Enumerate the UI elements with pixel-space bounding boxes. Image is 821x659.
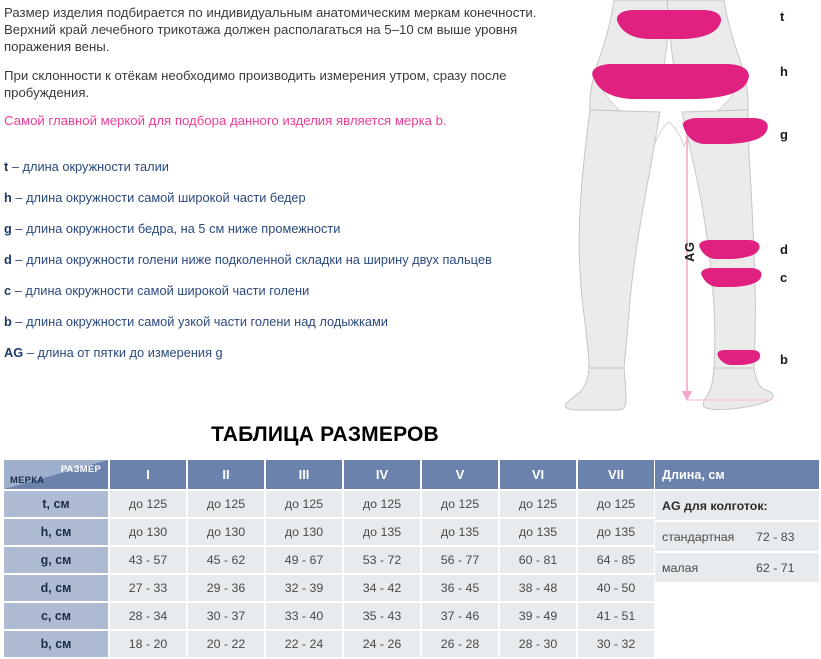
cell-h-6: до 135 <box>500 519 576 545</box>
corner-measure-label: МЕРКА <box>10 474 44 485</box>
page-title: ТАБЛИЦА РАЗМЕРОВ <box>0 423 650 447</box>
cell-b-1: 18 - 20 <box>110 631 186 657</box>
legend-key-t: t <box>4 159 8 174</box>
legend-text-b: длина окружности самой узкой части голен… <box>26 314 388 329</box>
size-column-header-3: III <box>266 460 342 489</box>
length-row-name-small: малая <box>655 553 755 582</box>
legend-text-t: длина окружности талии <box>23 159 169 174</box>
legend-item-h: h – длина окружности самой широкой части… <box>4 190 604 221</box>
legend-dash-b: – <box>15 314 22 329</box>
size-column-header-5: V <box>422 460 498 489</box>
legend-item-d: d – длина окружности голени ниже подколе… <box>4 252 604 283</box>
table-row: стандартная 72 - 83 <box>655 522 819 551</box>
cell-t-3: до 125 <box>266 491 342 517</box>
cell-c-1: 28 - 34 <box>110 603 186 629</box>
cell-b-3: 22 - 24 <box>266 631 342 657</box>
figure-label-g: g <box>780 128 788 141</box>
figure-label-d: d <box>780 243 788 256</box>
cell-b-5: 26 - 28 <box>422 631 498 657</box>
highlight-paragraph: Самой главной меркой для подбора данного… <box>4 112 552 129</box>
cell-h-7: до 135 <box>578 519 654 545</box>
cell-b-7: 30 - 32 <box>578 631 654 657</box>
legend-text-h: длина окружности самой широкой части бед… <box>26 190 306 205</box>
cell-c-7: 41 - 51 <box>578 603 654 629</box>
cell-d-1: 27 - 33 <box>110 575 186 601</box>
legend-item-t: t – длина окружности талии <box>4 159 604 190</box>
legend-text-g: длина окружности бедра, на 5 см ниже про… <box>26 221 340 236</box>
length-row-name-standard: стандартная <box>655 522 755 551</box>
cell-t-7: до 125 <box>578 491 654 517</box>
legend-dash-t: – <box>12 159 19 174</box>
cell-t-4: до 125 <box>344 491 420 517</box>
band-h <box>592 64 749 99</box>
cell-h-3: до 130 <box>266 519 342 545</box>
length-table-subheader-row: AG для колготок: <box>655 491 819 520</box>
table-row: h, см до 130 до 130 до 130 до 135 до 135… <box>4 519 654 545</box>
intro-text-block: Размер изделия подбирается по индивидуал… <box>4 4 552 129</box>
cell-b-2: 20 - 22 <box>188 631 264 657</box>
figure-label-ag: AG <box>682 242 697 263</box>
figure-label-c: c <box>780 271 787 284</box>
legend-key-c: c <box>4 283 11 298</box>
table-row: малая 62 - 71 <box>655 553 819 582</box>
corner-size-label: РАЗМЕР <box>61 463 101 474</box>
legend-key-b: b <box>4 314 12 329</box>
legend-item-ag: AG – длина от пятки до измерения g <box>4 345 604 376</box>
row-label-h: h, см <box>4 519 108 545</box>
cell-t-5: до 125 <box>422 491 498 517</box>
intro-paragraph-1: Размер изделия подбирается по индивидуал… <box>4 4 552 56</box>
legend-key-g: g <box>4 221 12 236</box>
cell-h-5: до 135 <box>422 519 498 545</box>
cell-c-3: 33 - 40 <box>266 603 342 629</box>
legend-text-c: длина окружности самой широкой части гол… <box>25 283 309 298</box>
cell-h-1: до 130 <box>110 519 186 545</box>
cell-d-2: 29 - 36 <box>188 575 264 601</box>
cell-h-2: до 130 <box>188 519 264 545</box>
cell-c-6: 39 - 49 <box>500 603 576 629</box>
cell-c-4: 35 - 43 <box>344 603 420 629</box>
cell-g-5: 56 - 77 <box>422 547 498 573</box>
size-table-header-row: РАЗМЕР МЕРКА I II III IV V VI VII <box>4 460 654 489</box>
cell-t-6: до 125 <box>500 491 576 517</box>
size-table: РАЗМЕР МЕРКА I II III IV V VI VII t, см … <box>2 458 656 659</box>
length-row-value-small: 62 - 71 <box>755 553 819 582</box>
table-row: d, см 27 - 33 29 - 36 32 - 39 34 - 42 36… <box>4 575 654 601</box>
size-column-header-6: VI <box>500 460 576 489</box>
legend-text-ag: длина от пятки до измерения g <box>37 345 222 360</box>
cell-d-6: 38 - 48 <box>500 575 576 601</box>
cell-g-3: 49 - 67 <box>266 547 342 573</box>
row-label-c: c, см <box>4 603 108 629</box>
cell-c-2: 30 - 37 <box>188 603 264 629</box>
size-column-header-2: II <box>188 460 264 489</box>
legend-item-b: b – длина окружности самой узкой части г… <box>4 314 604 345</box>
cell-g-4: 53 - 72 <box>344 547 420 573</box>
length-table-header-row: Длина, см <box>655 460 819 489</box>
figure-label-b: b <box>780 353 788 366</box>
size-column-header-4: IV <box>344 460 420 489</box>
legend-dash-c: – <box>15 283 22 298</box>
legend-key-d: d <box>4 252 12 267</box>
cell-t-1: до 125 <box>110 491 186 517</box>
band-g <box>683 118 768 144</box>
figure-label-t: t <box>780 10 784 23</box>
cell-b-4: 24 - 26 <box>344 631 420 657</box>
cell-h-4: до 135 <box>344 519 420 545</box>
row-label-t: t, см <box>4 491 108 517</box>
intro-paragraph-2: При склонности к отёкам необходимо произ… <box>4 67 552 101</box>
length-table-subheader: AG для колготок: <box>655 491 819 520</box>
body-silhouette <box>565 0 773 410</box>
cell-g-6: 60 - 81 <box>500 547 576 573</box>
cell-b-6: 28 - 30 <box>500 631 576 657</box>
cell-t-2: до 125 <box>188 491 264 517</box>
legend-dash-h: – <box>15 190 22 205</box>
row-label-b: b, см <box>4 631 108 657</box>
table-row: c, см 28 - 34 30 - 37 33 - 40 35 - 43 37… <box>4 603 654 629</box>
legend-item-g: g – длина окружности бедра, на 5 см ниже… <box>4 221 604 252</box>
table-row: t, см до 125 до 125 до 125 до 125 до 125… <box>4 491 654 517</box>
size-table-corner-cell: РАЗМЕР МЕРКА <box>4 460 108 489</box>
row-label-g: g, см <box>4 547 108 573</box>
table-row: b, см 18 - 20 20 - 22 22 - 24 24 - 26 26… <box>4 631 654 657</box>
cell-d-4: 34 - 42 <box>344 575 420 601</box>
size-column-header-1: I <box>110 460 186 489</box>
cell-c-5: 37 - 46 <box>422 603 498 629</box>
row-label-d: d, см <box>4 575 108 601</box>
length-row-value-standard: 72 - 83 <box>755 522 819 551</box>
cell-d-5: 36 - 45 <box>422 575 498 601</box>
length-table-header: Длина, см <box>655 460 819 489</box>
cell-g-7: 64 - 85 <box>578 547 654 573</box>
legend-dash-ag: – <box>27 345 34 360</box>
cell-g-1: 43 - 57 <box>110 547 186 573</box>
figure-label-h: h <box>780 65 788 78</box>
anatomy-illustration: t h g d c b AG <box>556 0 821 415</box>
legend-text-d: длина окружности голени ниже подколенной… <box>26 252 492 267</box>
legend-dash-d: – <box>15 252 22 267</box>
legend-dash-g: – <box>15 221 22 236</box>
cell-d-3: 32 - 39 <box>266 575 342 601</box>
length-table: Длина, см AG для колготок: стандартная 7… <box>655 458 819 584</box>
legend-item-c: c – длина окружности самой широкой части… <box>4 283 604 314</box>
table-row: g, см 43 - 57 45 - 62 49 - 67 53 - 72 56… <box>4 547 654 573</box>
size-column-header-7: VII <box>578 460 654 489</box>
measurement-legend: t – длина окружности талии h – длина окр… <box>4 159 604 376</box>
legend-key-ag: AG <box>4 345 23 360</box>
legend-key-h: h <box>4 190 12 205</box>
cell-d-7: 40 - 50 <box>578 575 654 601</box>
cell-g-2: 45 - 62 <box>188 547 264 573</box>
